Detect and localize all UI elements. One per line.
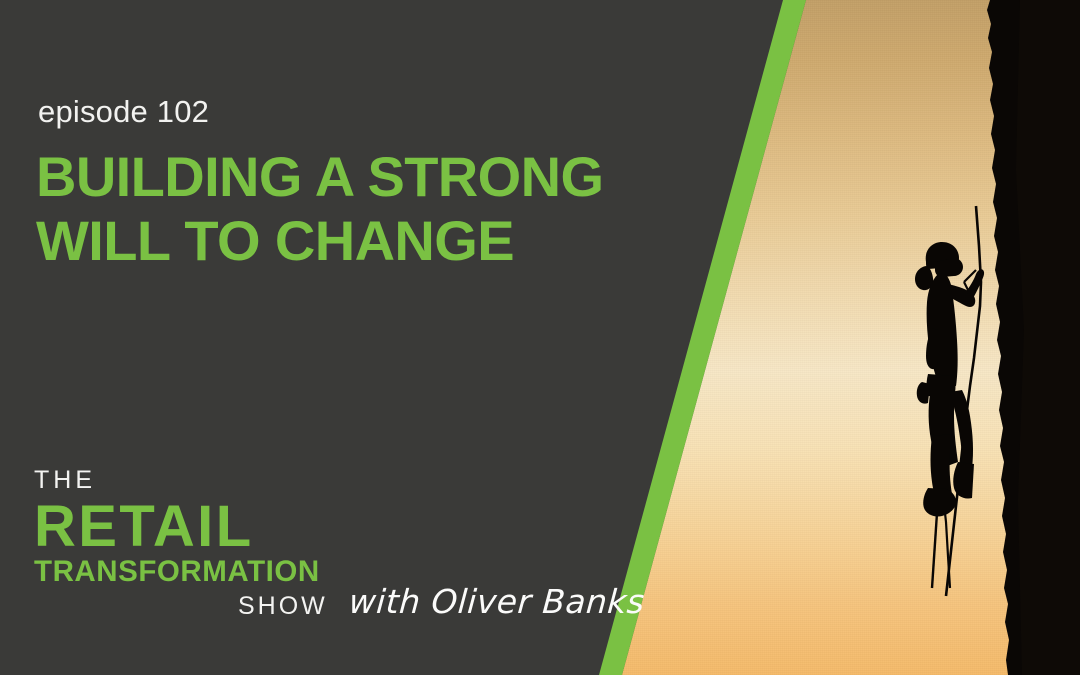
host-credit: with Oliver Banks bbox=[348, 585, 646, 618]
logo-word-show: SHOW bbox=[238, 594, 328, 619]
climber-silhouette bbox=[880, 236, 1010, 576]
page-title: BUILDING A STRONG WILL TO CHANGE bbox=[36, 145, 656, 272]
episode-cover-artwork: episode 102 BUILDING A STRONG WILL TO CH… bbox=[0, 0, 1080, 675]
logo-bottom-row: SHOW with Oliver Banks bbox=[34, 591, 614, 629]
logo-word-the: THE bbox=[34, 468, 614, 493]
show-logo: THE RETAIL TRANSFORMATION SHOW with Oliv… bbox=[34, 468, 614, 629]
episode-label: episode 102 bbox=[38, 96, 209, 127]
logo-word-retail: RETAIL bbox=[34, 499, 614, 555]
